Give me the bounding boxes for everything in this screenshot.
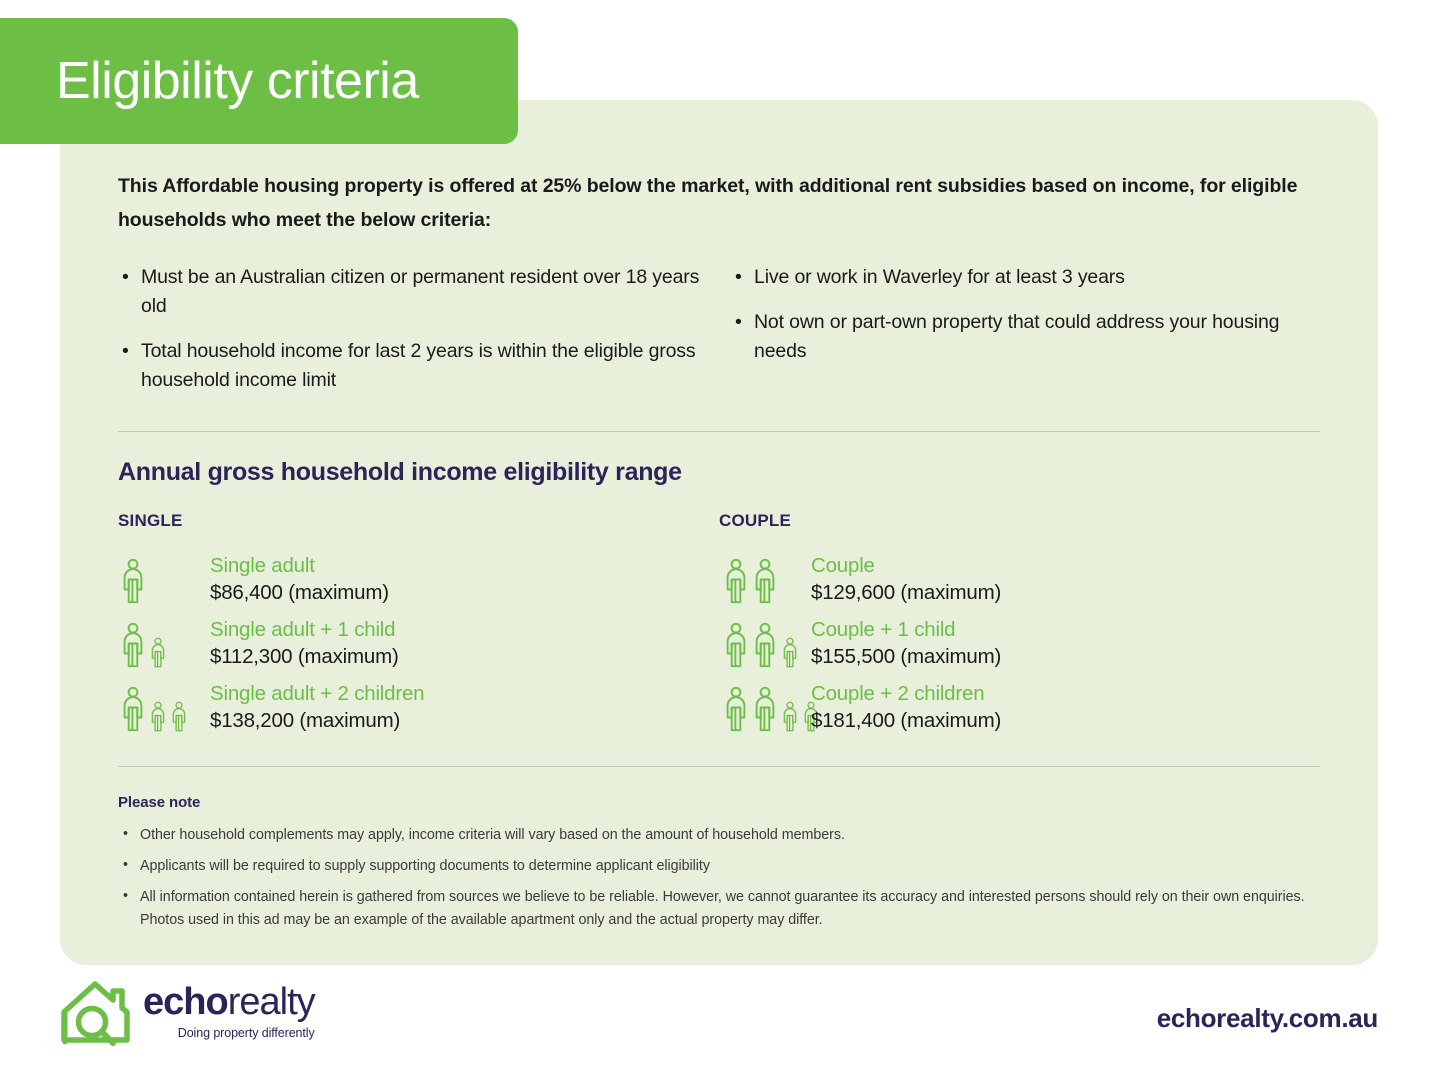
income-row: Single adult + 1 child $112,300 (maximum… xyxy=(118,609,719,673)
note-item-text: Applicants will be required to supply su… xyxy=(140,858,710,874)
criteria-item: • Not own or part-own property that coul… xyxy=(731,308,1314,366)
please-note-heading: Please note xyxy=(118,794,1320,811)
bullet-icon: • xyxy=(123,823,128,846)
criteria-bullets: • Must be an Australian citizen or perma… xyxy=(118,263,1320,410)
income-row: Couple $129,600 (maximum) xyxy=(719,545,1320,609)
household-income-value: $138,200 (maximum) xyxy=(210,707,424,734)
child-person-icon xyxy=(781,701,799,737)
page-header-banner: Eligibility criteria xyxy=(0,18,518,144)
household-icon-group xyxy=(719,547,811,609)
page-footer: echorealty Doing property differently ec… xyxy=(0,965,1440,1080)
adult-person-icon xyxy=(752,686,778,737)
child-person-icon xyxy=(781,637,799,673)
income-column-single: SINGLE Single adult $86,400 (maximum) Si… xyxy=(118,511,719,737)
logo-name-bold: echo xyxy=(143,981,228,1023)
household-icon-group xyxy=(719,611,811,673)
income-column-label: SINGLE xyxy=(118,511,719,531)
note-item: • Other household complements may apply,… xyxy=(118,824,1320,847)
income-row-text: Couple + 1 child $155,500 (maximum) xyxy=(811,617,1001,672)
criteria-item: • Live or work in Waverley for at least … xyxy=(731,263,1314,292)
logo-tagline: Doing property differently xyxy=(143,1026,315,1040)
income-row-text: Single adult + 2 children $138,200 (maxi… xyxy=(210,681,424,736)
criteria-column-right: • Live or work in Waverley for at least … xyxy=(719,263,1320,410)
income-row: Single adult + 2 children $138,200 (maxi… xyxy=(118,673,719,737)
adult-person-icon xyxy=(752,558,778,609)
card-content: This Affordable housing property is offe… xyxy=(118,170,1320,940)
income-row-text: Single adult + 1 child $112,300 (maximum… xyxy=(210,617,399,672)
income-column-couple: COUPLE Couple $129,600 (maximum) Couple … xyxy=(719,511,1320,737)
adult-person-icon xyxy=(723,686,749,737)
logo-name: echorealty xyxy=(143,981,315,1023)
logo-name-light: realty xyxy=(228,981,315,1023)
adult-person-icon xyxy=(723,622,749,673)
income-row-text: Couple + 2 children $181,400 (maximum) xyxy=(811,681,1001,736)
household-type-label: Single adult + 2 children xyxy=(210,681,424,707)
household-type-label: Single adult + 1 child xyxy=(210,617,399,643)
child-person-icon xyxy=(149,637,167,673)
household-type-label: Couple xyxy=(811,553,1001,579)
household-icon-group xyxy=(118,611,210,673)
household-type-label: Couple + 1 child xyxy=(811,617,1001,643)
adult-person-icon xyxy=(120,686,146,737)
bullet-icon: • xyxy=(735,308,742,337)
household-icon-group xyxy=(118,547,210,609)
note-item-text: All information contained herein is gath… xyxy=(140,889,1305,928)
household-icon-group xyxy=(719,675,811,737)
criteria-item-text: Live or work in Waverley for at least 3 … xyxy=(754,266,1125,288)
household-income-value: $181,400 (maximum) xyxy=(811,707,1001,734)
section-divider-top xyxy=(118,431,1320,432)
adult-person-icon xyxy=(120,622,146,673)
note-item: • Applicants will be required to supply … xyxy=(118,855,1320,878)
adult-person-icon xyxy=(752,622,778,673)
income-row: Couple + 2 children $181,400 (maximum) xyxy=(719,673,1320,737)
adult-person-icon xyxy=(723,558,749,609)
bullet-icon: • xyxy=(735,263,742,292)
section-divider-bottom xyxy=(118,766,1320,767)
bullet-icon: • xyxy=(123,854,128,877)
income-section-heading: Annual gross household income eligibilit… xyxy=(118,458,1320,487)
household-type-label: Couple + 2 children xyxy=(811,681,1001,707)
child-person-icon xyxy=(170,701,188,737)
criteria-column-left: • Must be an Australian citizen or perma… xyxy=(118,263,719,410)
intro-paragraph: This Affordable housing property is offe… xyxy=(118,170,1313,237)
household-income-value: $129,600 (maximum) xyxy=(811,579,1001,606)
note-item: • All information contained herein is ga… xyxy=(118,886,1320,932)
household-type-label: Single adult xyxy=(210,553,389,579)
income-column-label: COUPLE xyxy=(719,511,1320,531)
criteria-item-text: Not own or part-own property that could … xyxy=(754,311,1279,362)
income-row: Single adult $86,400 (maximum) xyxy=(118,545,719,609)
income-row-text: Single adult $86,400 (maximum) xyxy=(210,553,389,608)
website-url[interactable]: echorealty.com.au xyxy=(1157,1003,1378,1034)
household-income-value: $155,500 (maximum) xyxy=(811,643,1001,670)
echo-realty-logo[interactable]: echorealty Doing property differently xyxy=(60,978,315,1046)
criteria-item: • Must be an Australian citizen or perma… xyxy=(118,263,701,321)
logo-wordmark: echorealty Doing property differently xyxy=(143,983,315,1042)
house-magnifier-icon xyxy=(60,978,134,1046)
household-icon-group xyxy=(118,675,210,737)
bullet-icon: • xyxy=(122,263,129,292)
criteria-item: • Total household income for last 2 year… xyxy=(118,337,701,395)
income-row: Couple + 1 child $155,500 (maximum) xyxy=(719,609,1320,673)
page-title: Eligibility criteria xyxy=(56,55,419,107)
household-income-value: $86,400 (maximum) xyxy=(210,579,389,606)
child-person-icon xyxy=(149,701,167,737)
adult-person-icon xyxy=(120,558,146,609)
income-columns: SINGLE Single adult $86,400 (maximum) Si… xyxy=(118,511,1320,737)
please-note-list: • Other household complements may apply,… xyxy=(118,824,1320,933)
note-item-text: Other household complements may apply, i… xyxy=(140,827,845,843)
bullet-icon: • xyxy=(122,337,129,366)
bullet-icon: • xyxy=(123,885,128,908)
criteria-item-text: Total household income for last 2 years … xyxy=(141,340,696,391)
criteria-item-text: Must be an Australian citizen or permane… xyxy=(141,266,699,317)
income-row-text: Couple $129,600 (maximum) xyxy=(811,553,1001,608)
household-income-value: $112,300 (maximum) xyxy=(210,643,399,670)
